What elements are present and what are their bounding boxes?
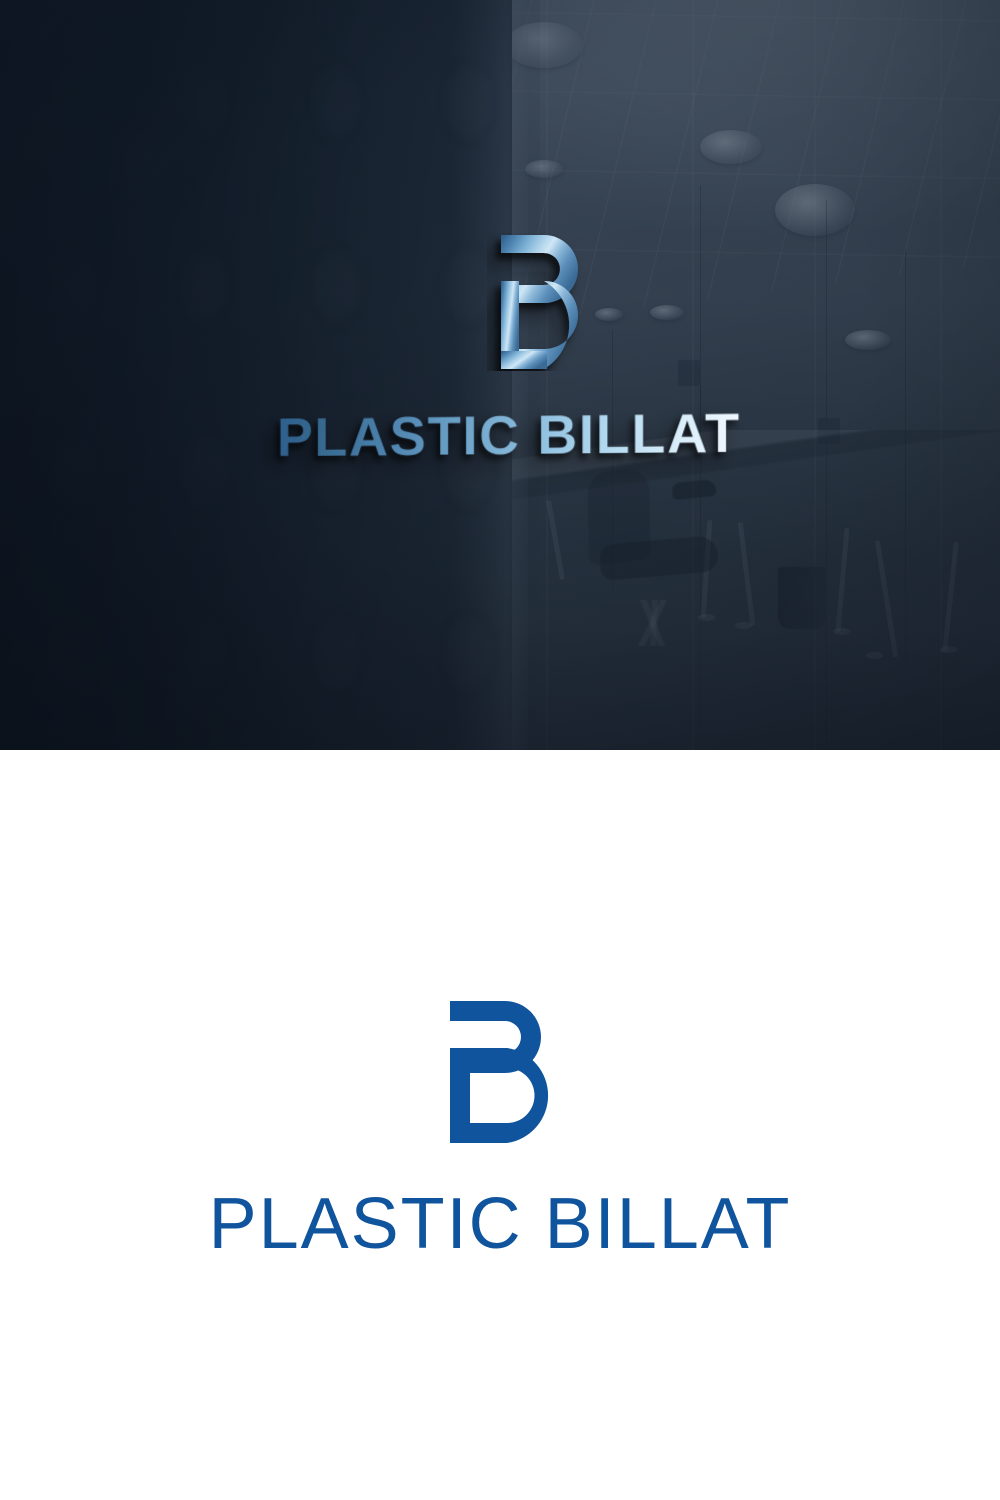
logo-presentation-page: PLASTIC BILLAT PLASTIC BILLAT bbox=[0, 0, 1000, 1500]
flat-logo-panel: PLASTIC BILLAT bbox=[0, 750, 1000, 1500]
scene-vignette bbox=[0, 0, 1000, 750]
logo-mark bbox=[447, 998, 557, 1146]
logo-wordmark: PLASTIC BILLAT bbox=[0, 1184, 1000, 1264]
signage-mockup-panel: PLASTIC BILLAT bbox=[0, 0, 1000, 750]
